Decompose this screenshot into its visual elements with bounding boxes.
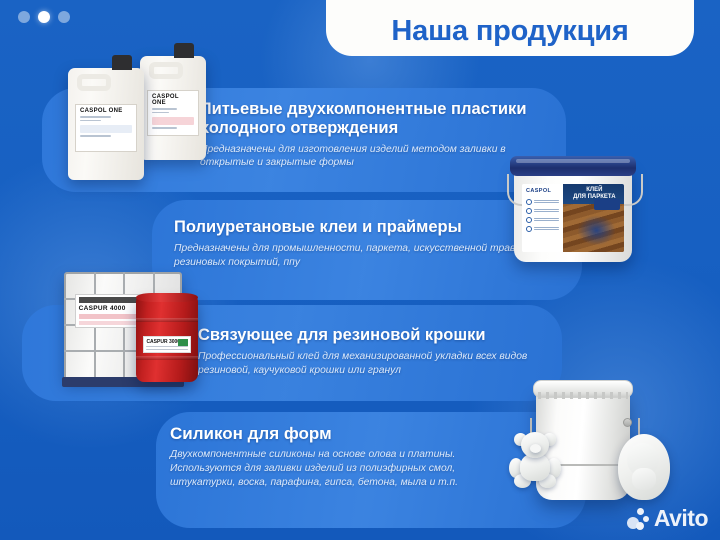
avito-wordmark: Avito — [654, 505, 708, 532]
section-subtext: Предназначены для изготовления изделий м… — [200, 143, 530, 171]
drum-rib — [136, 318, 198, 322]
pail-handle-ear — [623, 418, 632, 427]
bullet-lines — [534, 200, 559, 205]
check-icon — [526, 199, 532, 205]
jerrycan-left-brand: CASPOL ONE — [80, 108, 132, 114]
section-heading: Полиуретановые клеи и праймеры — [174, 218, 534, 237]
bear-muzzle — [530, 444, 541, 453]
product-image-binder-group: CASPUR 4000 CASPUR 3000 — [60, 266, 240, 388]
silicone-bear-figurine — [508, 432, 564, 490]
silicone-mold-half — [618, 434, 670, 500]
pail-lid-clips — [538, 392, 628, 399]
jerrycan-handle — [149, 62, 183, 79]
list-item — [526, 217, 559, 223]
bucket-label: CASPOL КЛЕЙ ДЛЯ ПАРКЕТА — [522, 184, 624, 252]
carousel-dot-3[interactable] — [58, 11, 70, 23]
label-line — [80, 135, 111, 137]
section-text-casting-plastics: Литьевые двухкомпонентные пластики холод… — [200, 100, 530, 170]
drum-label: CASPUR 3000 — [143, 336, 190, 354]
label-line — [152, 127, 177, 129]
bullet-lines — [534, 218, 559, 223]
bucket-lid — [510, 156, 636, 176]
jerrycan-left-label: CASPOL ONE — [75, 104, 137, 152]
section-text-mold-silicone: Силикон для форм Двухкомпонентные силико… — [170, 424, 520, 490]
section-subtext: Двухкомпонентные силиконы на основе олов… — [170, 448, 520, 489]
product-image-jerrycans: CASPOL ONE CASPOL ONE — [62, 42, 212, 172]
product-image-parquet-glue-bucket: CASPOL КЛЕЙ ДЛЯ ПАРКЕТА — [514, 152, 632, 267]
label-line — [152, 108, 177, 110]
label-color-band — [178, 339, 188, 346]
bullet-lines — [534, 209, 559, 214]
avito-watermark: Avito — [627, 505, 708, 532]
section-heading: Силикон для форм — [170, 424, 520, 443]
label-color-band — [152, 117, 194, 125]
bucket-feature-list — [526, 199, 559, 232]
product-lineup-banner: Наша продукция CASPOL ONE CASPOL ONE — [0, 0, 720, 540]
label-line — [146, 346, 187, 347]
red-drum: CASPUR 3000 — [136, 296, 198, 382]
product-image-silicone-group — [516, 374, 716, 524]
bucket-label-right: КЛЕЙ ДЛЯ ПАРКЕТА — [563, 184, 624, 252]
bullet-lines — [534, 227, 559, 232]
section-text-pu-adhesives: Полиуретановые клеи и праймеры Предназна… — [174, 218, 534, 269]
section-heading: Литьевые двухкомпонентные пластики холод… — [200, 100, 530, 138]
check-icon — [526, 217, 532, 223]
avito-logo-icon — [627, 508, 649, 530]
bucket-badge — [594, 199, 620, 210]
drum-lid — [136, 293, 198, 302]
list-item — [526, 208, 559, 214]
label-line — [146, 349, 187, 350]
section-text-rubber-crumb-binder: Связующее для резиновой крошки Профессио… — [198, 326, 538, 377]
list-item — [526, 226, 559, 232]
bucket-title-line1: КЛЕЙ — [567, 187, 622, 194]
jerrycan-cap-icon — [174, 43, 194, 58]
check-icon — [526, 226, 532, 232]
label-line — [80, 116, 111, 118]
jerrycan-right: CASPOL ONE — [140, 56, 206, 160]
parquet-photo — [563, 204, 624, 252]
carousel-dot-2[interactable] — [38, 11, 50, 23]
label-color-band — [80, 125, 132, 133]
label-line — [80, 120, 101, 122]
section-heading: Связующее для резиновой крошки — [198, 326, 538, 345]
jerrycan-right-label: CASPOL ONE — [147, 90, 199, 136]
section-subtext: Профессиональный клей для механизированн… — [198, 350, 538, 378]
jerrycan-right-brand: CASPOL ONE — [152, 94, 194, 106]
drum-rib — [136, 356, 198, 360]
page-title: Наша продукция — [391, 15, 628, 48]
carousel-dot-1[interactable] — [18, 11, 30, 23]
bucket-label-left: CASPOL — [522, 184, 563, 252]
jerrycan-left: CASPOL ONE — [68, 68, 144, 180]
title-plate: Наша продукция — [326, 0, 694, 56]
jerrycan-handle — [77, 74, 111, 91]
carousel-indicator[interactable] — [18, 11, 70, 23]
check-icon — [526, 208, 532, 214]
label-line — [152, 112, 169, 114]
list-item — [526, 199, 559, 205]
bucket-brand: CASPOL — [526, 188, 559, 194]
jerrycan-cap-icon — [112, 55, 132, 70]
